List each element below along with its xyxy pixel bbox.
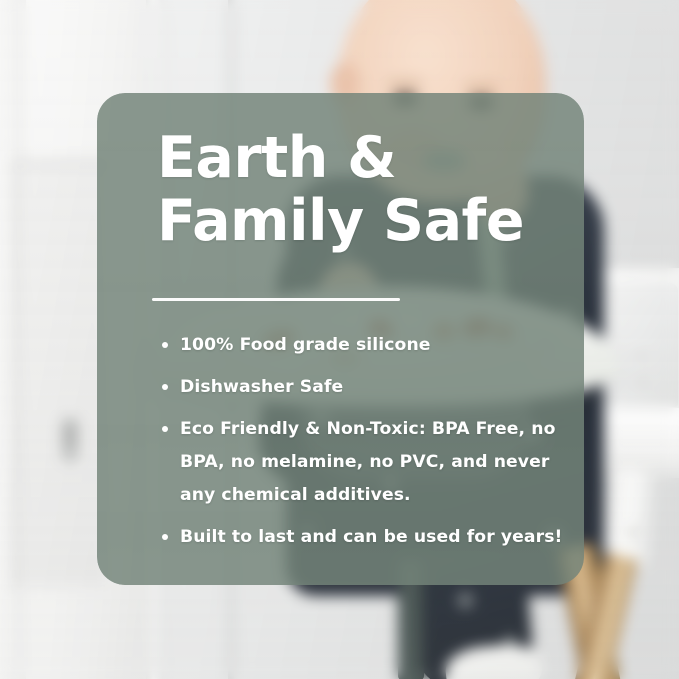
bullet-dot-icon xyxy=(162,342,168,348)
feature-list-item-label: Dishwasher Safe xyxy=(180,377,343,397)
bullet-dot-icon xyxy=(162,534,168,540)
bullet-dot-icon xyxy=(162,384,168,390)
feature-list-item: Eco Friendly & Non-Toxic: BPA Free, no B… xyxy=(152,413,572,512)
feature-list-item: Built to last and can be used for years! xyxy=(152,521,572,554)
feature-list: 100% Food grade siliconeDishwasher SafeE… xyxy=(152,329,572,563)
title-divider xyxy=(152,298,400,301)
feature-list-item-label: Built to last and can be used for years! xyxy=(180,527,562,547)
card-content: Earth & Family Safe 100% Food grade sili… xyxy=(97,93,584,585)
feature-list-item: 100% Food grade silicone xyxy=(152,329,572,362)
feature-list-item-label: Eco Friendly & Non-Toxic: BPA Free, no B… xyxy=(180,419,555,505)
screenshot-root: ★ ★ ★ ★ ★ ★ ★ ★ ★ ★ Earth & Famil xyxy=(0,0,679,679)
bullet-dot-icon xyxy=(162,426,168,432)
feature-list-item: Dishwasher Safe xyxy=(152,371,572,404)
card-title: Earth & Family Safe xyxy=(157,127,567,253)
feature-card: Earth & Family Safe 100% Food grade sili… xyxy=(97,93,584,585)
feature-list-item-label: 100% Food grade silicone xyxy=(180,335,431,355)
